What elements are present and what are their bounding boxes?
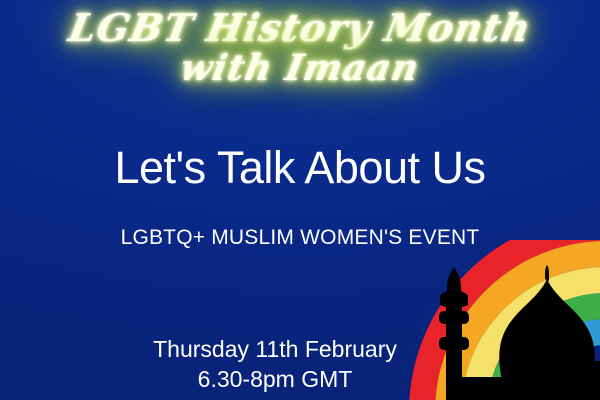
event-date: Thursday 11th February [0, 334, 550, 364]
event-poster: LGBT History Month with Imaan Let's Talk… [0, 0, 600, 400]
event-datetime: Thursday 11th February 6.30-8pm GMT [0, 334, 550, 394]
poster-subtitle: LGBTQ+ MUSLIM WOMEN'S EVENT [0, 225, 600, 251]
poster-headline: Let's Talk About Us [0, 142, 600, 194]
event-time: 6.30-8pm GMT [0, 364, 550, 394]
